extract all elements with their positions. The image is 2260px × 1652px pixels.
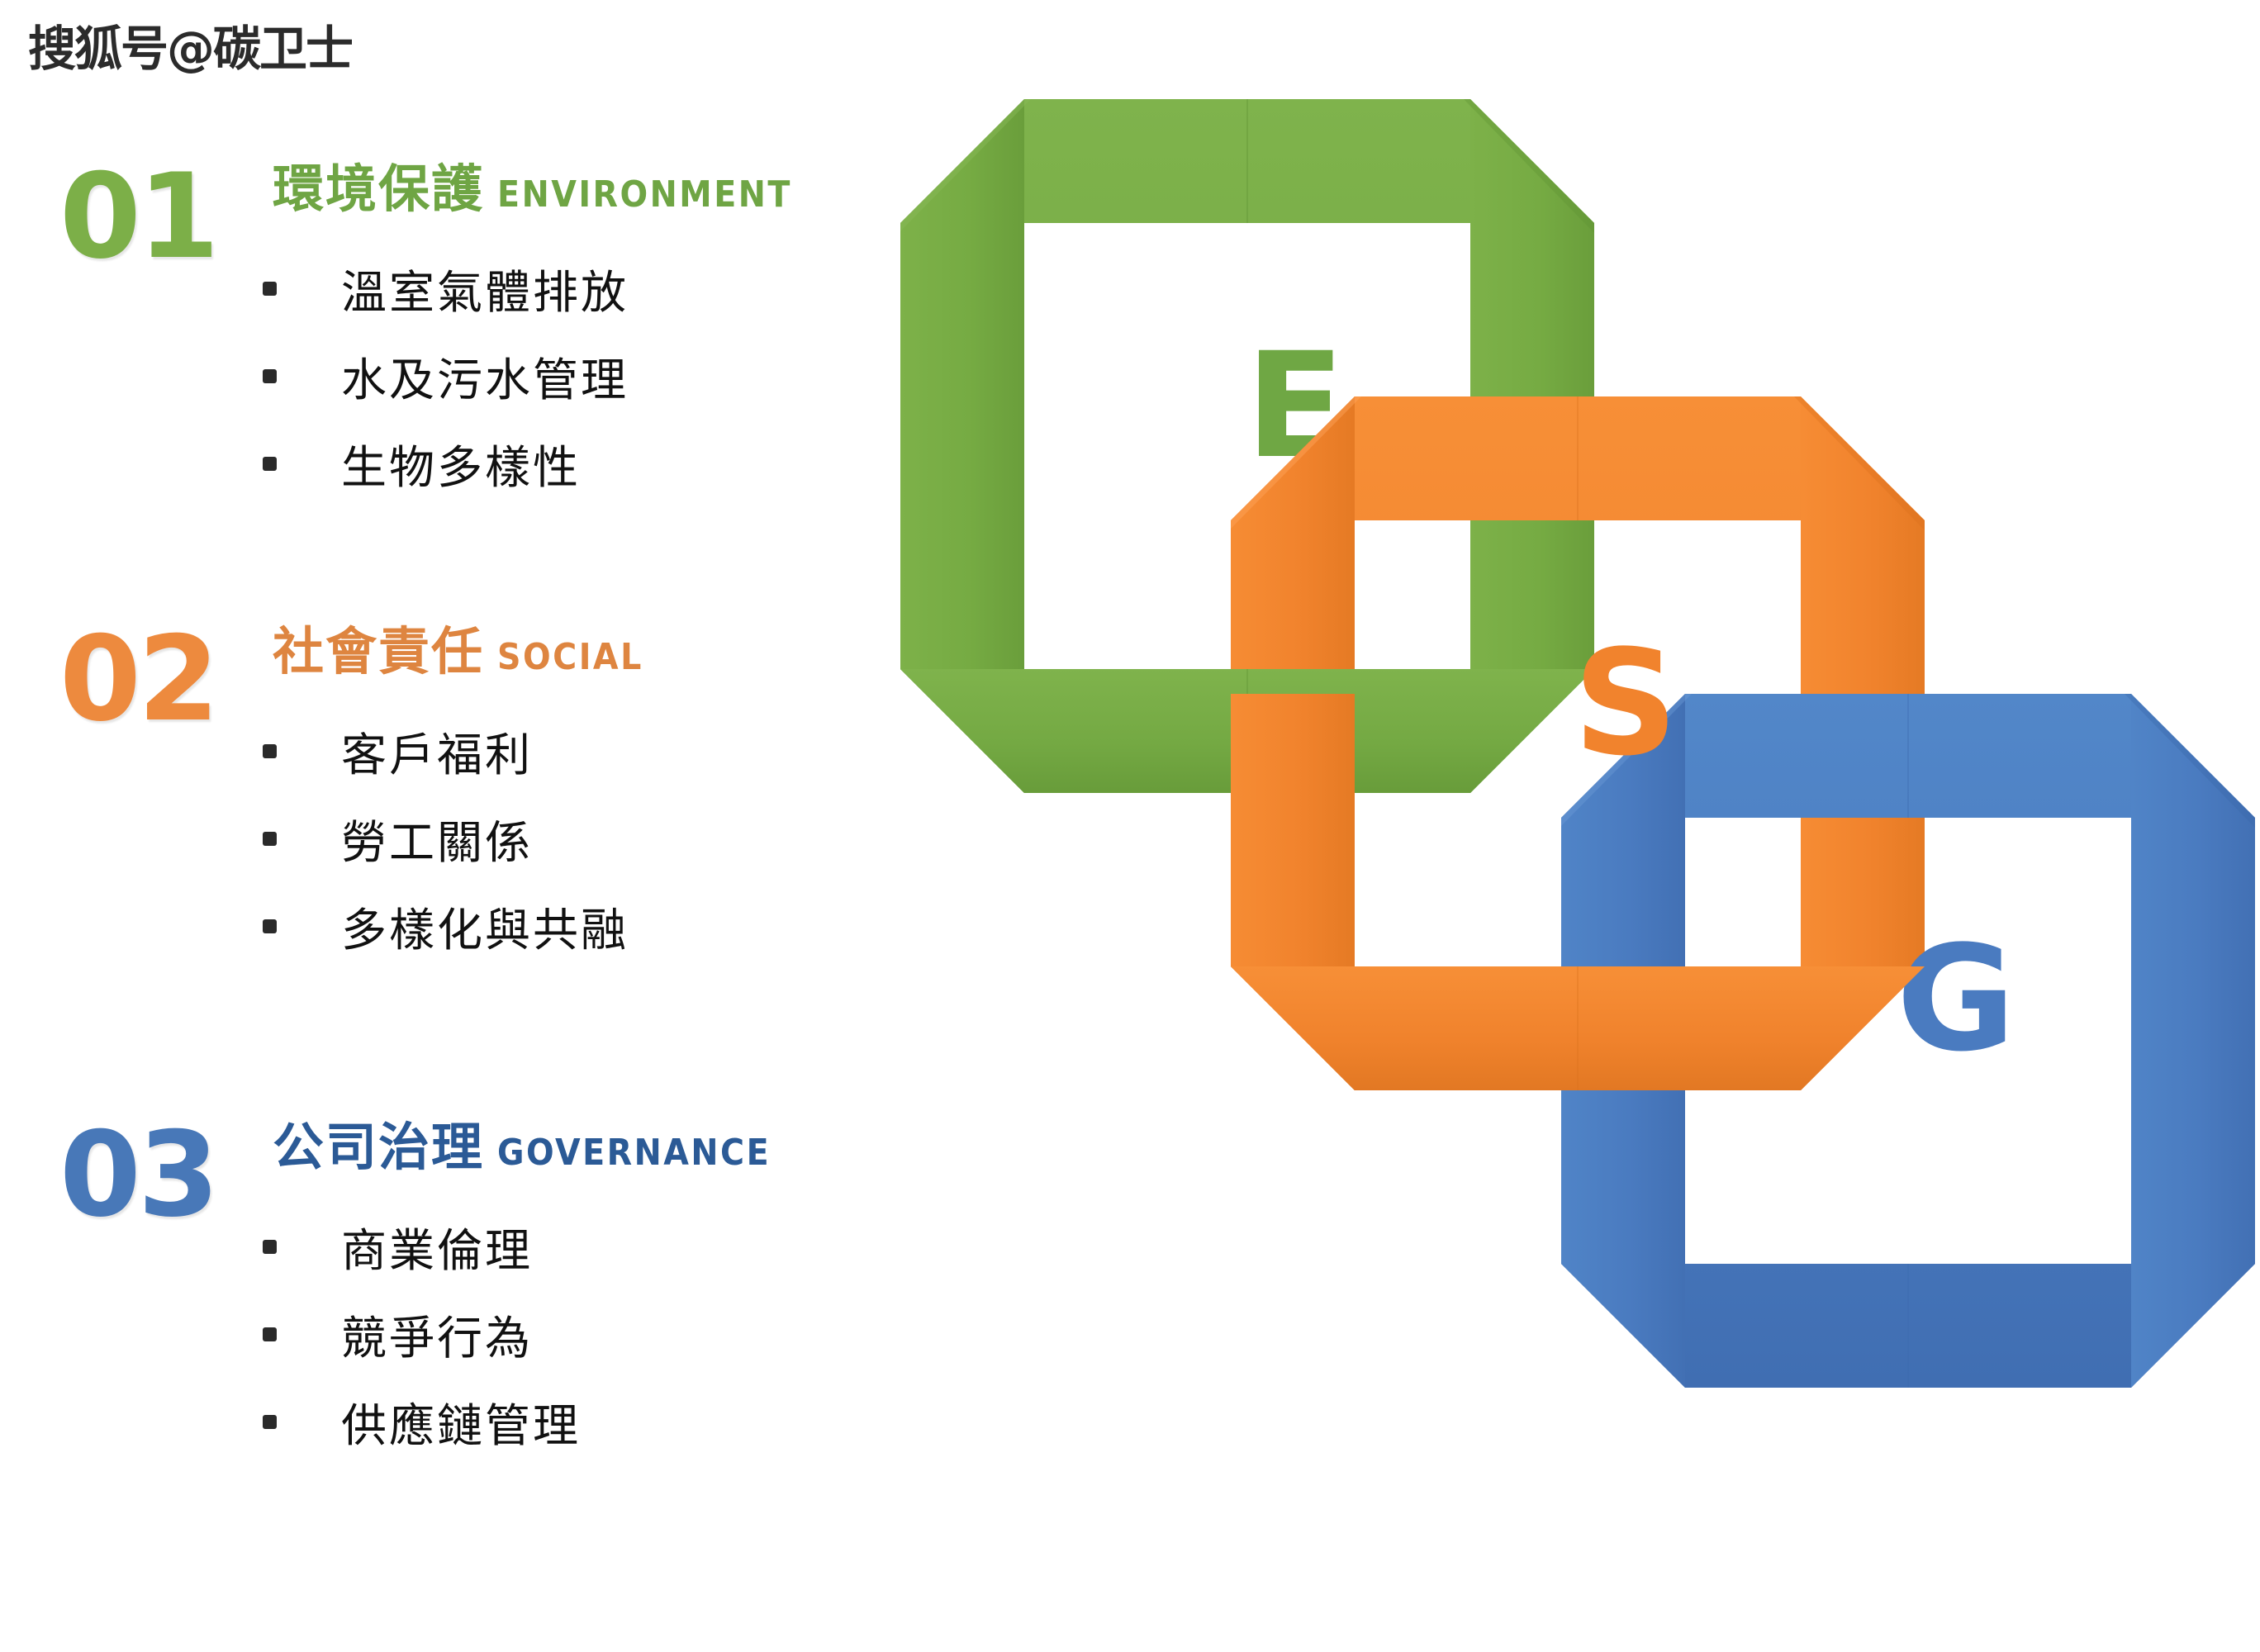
bullet-label: 水及污水管理 [341,343,629,409]
bullet-square-icon [263,1240,277,1254]
bullet-label: 多樣化與共融 [341,893,629,959]
bullet-square-icon [263,282,277,296]
section-number-02: 02 [59,621,216,738]
bullet-label: 溫室氣體排放 [341,255,629,321]
bullet-square-icon [263,832,277,846]
bullet-label: 勞工關係 [341,805,533,871]
ring-letter-s: S [1574,619,1678,788]
list-item: 客戶福利 [263,707,629,795]
bullet-square-icon [263,919,277,933]
heading-cn-environment: 環境保護 [273,147,484,221]
list-item: 商業倫理 [263,1203,581,1290]
bullet-list-environment: 溫室氣體排放 水及污水管理 生物多樣性 [263,244,629,507]
esg-pillar-list: 01 環境保護 ENVIRONMENT 溫室氣體排放 水及污水管理 生物多樣性 … [0,0,909,1652]
bullet-label: 供應鏈管理 [341,1389,581,1455]
bullet-label: 客戶福利 [341,718,533,784]
heading-en-social: SOCIAL [497,636,643,678]
bullet-square-icon [263,1415,277,1429]
section-number-01: 01 [59,159,216,276]
bullet-square-icon [263,369,277,383]
list-item: 生物多樣性 [263,420,629,507]
section-heading-environment: 環境保護 ENVIRONMENT [273,147,792,221]
esg-interlocking-rings-graphic: E [900,99,2255,1388]
section-heading-social: 社會責任 SOCIAL [273,610,643,684]
bullet-label: 生物多樣性 [341,430,581,496]
section-heading-governance: 公司治理 GOVERNANCE [273,1105,771,1180]
heading-en-governance: GOVERNANCE [497,1132,771,1174]
list-item: 水及污水管理 [263,332,629,420]
list-item: 溫室氣體排放 [263,244,629,332]
section-number-03: 03 [59,1117,216,1234]
list-item: 勞工關係 [263,795,629,882]
bullet-label: 競爭行為 [341,1301,533,1367]
list-item: 競爭行為 [263,1290,581,1378]
heading-en-environment: ENVIRONMENT [497,173,792,216]
bullet-square-icon [263,744,277,758]
ring-letter-g: G [1897,914,2015,1084]
list-item: 多樣化與共融 [263,882,629,970]
bullet-list-governance: 商業倫理 競爭行為 供應鏈管理 [263,1203,581,1465]
bullet-square-icon [263,1327,277,1341]
bullet-square-icon [263,457,277,471]
heading-cn-governance: 公司治理 [273,1105,484,1180]
bullet-label: 商業倫理 [341,1213,533,1279]
list-item: 供應鏈管理 [263,1378,581,1465]
heading-cn-social: 社會責任 [273,610,484,684]
bullet-list-social: 客戶福利 勞工關係 多樣化與共融 [263,707,629,970]
